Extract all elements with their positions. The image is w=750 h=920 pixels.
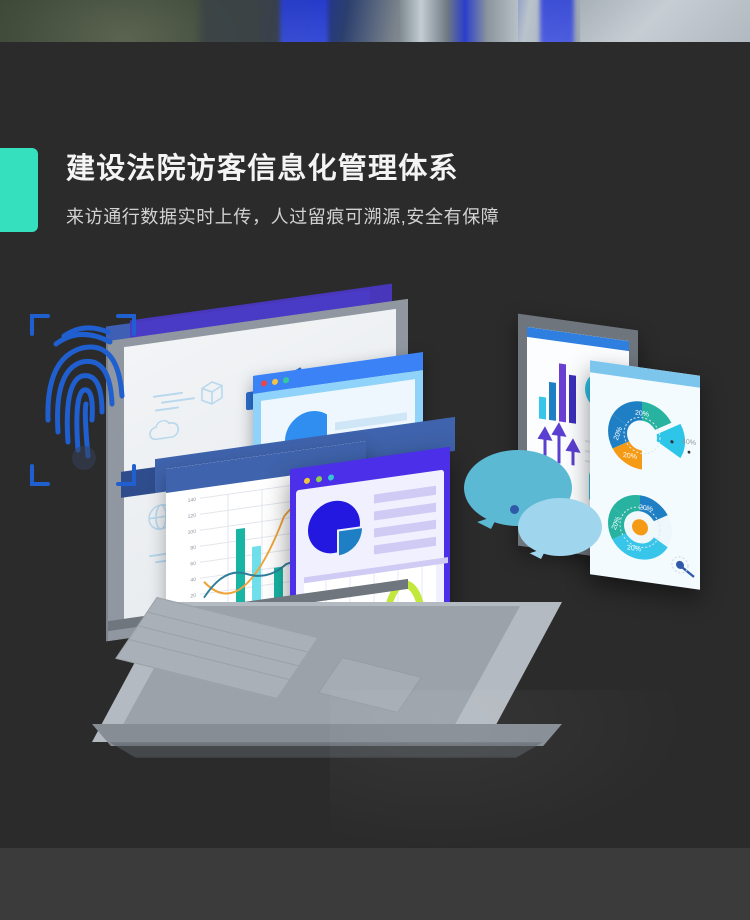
svg-text:80: 80 — [190, 545, 196, 552]
svg-text:20: 20 — [190, 593, 196, 600]
minimize-icon[interactable] — [272, 378, 278, 385]
text-line — [374, 503, 436, 521]
maximize-icon[interactable] — [283, 377, 289, 384]
maximize-icon[interactable] — [328, 474, 334, 481]
bottom-strip — [0, 848, 750, 920]
laptop-base-shadow — [100, 742, 552, 758]
minimize-icon[interactable] — [316, 476, 322, 483]
pin-icon — [672, 556, 694, 577]
photo-turnstile — [400, 0, 518, 42]
window-purple-top-row — [304, 479, 436, 572]
accent-dot — [510, 505, 519, 514]
donut-charts: 20% 20% 20% 40% — [590, 372, 700, 587]
svg-text:140: 140 — [188, 497, 197, 504]
page-root: 建设法院访客信息化管理体系 来访通行数据实时上传，人过留痕可溯源,安全有保障 — [0, 0, 750, 920]
close-icon[interactable] — [261, 380, 267, 387]
svg-text:40: 40 — [190, 577, 196, 584]
fingerprint-icon — [18, 300, 148, 505]
svg-text:120: 120 — [188, 513, 197, 520]
close-icon[interactable] — [304, 477, 310, 484]
text-line — [374, 537, 436, 555]
photo-floor — [580, 0, 750, 42]
cube-icon — [200, 378, 224, 407]
window-purple-text-lines — [374, 479, 436, 562]
text-line — [374, 486, 436, 504]
page-title: 建设法院访客信息化管理体系 — [66, 145, 459, 187]
text-line — [374, 520, 436, 538]
chat-bubble-small — [518, 498, 602, 556]
svg-text:100: 100 — [188, 529, 197, 536]
svg-text:60: 60 — [190, 561, 196, 568]
page-subtitle: 来访通行数据实时上传，人过留痕可溯源,安全有保障 — [66, 203, 499, 229]
pie-chart-front — [304, 489, 366, 572]
security-turnstile-photo — [0, 0, 750, 42]
tablet-front-screen[interactable]: 20% 20% 20% 40% — [590, 360, 700, 589]
accent-bar — [0, 148, 38, 232]
photo-blue-light-left — [280, 0, 328, 42]
photo-blue-light-right — [540, 0, 574, 42]
